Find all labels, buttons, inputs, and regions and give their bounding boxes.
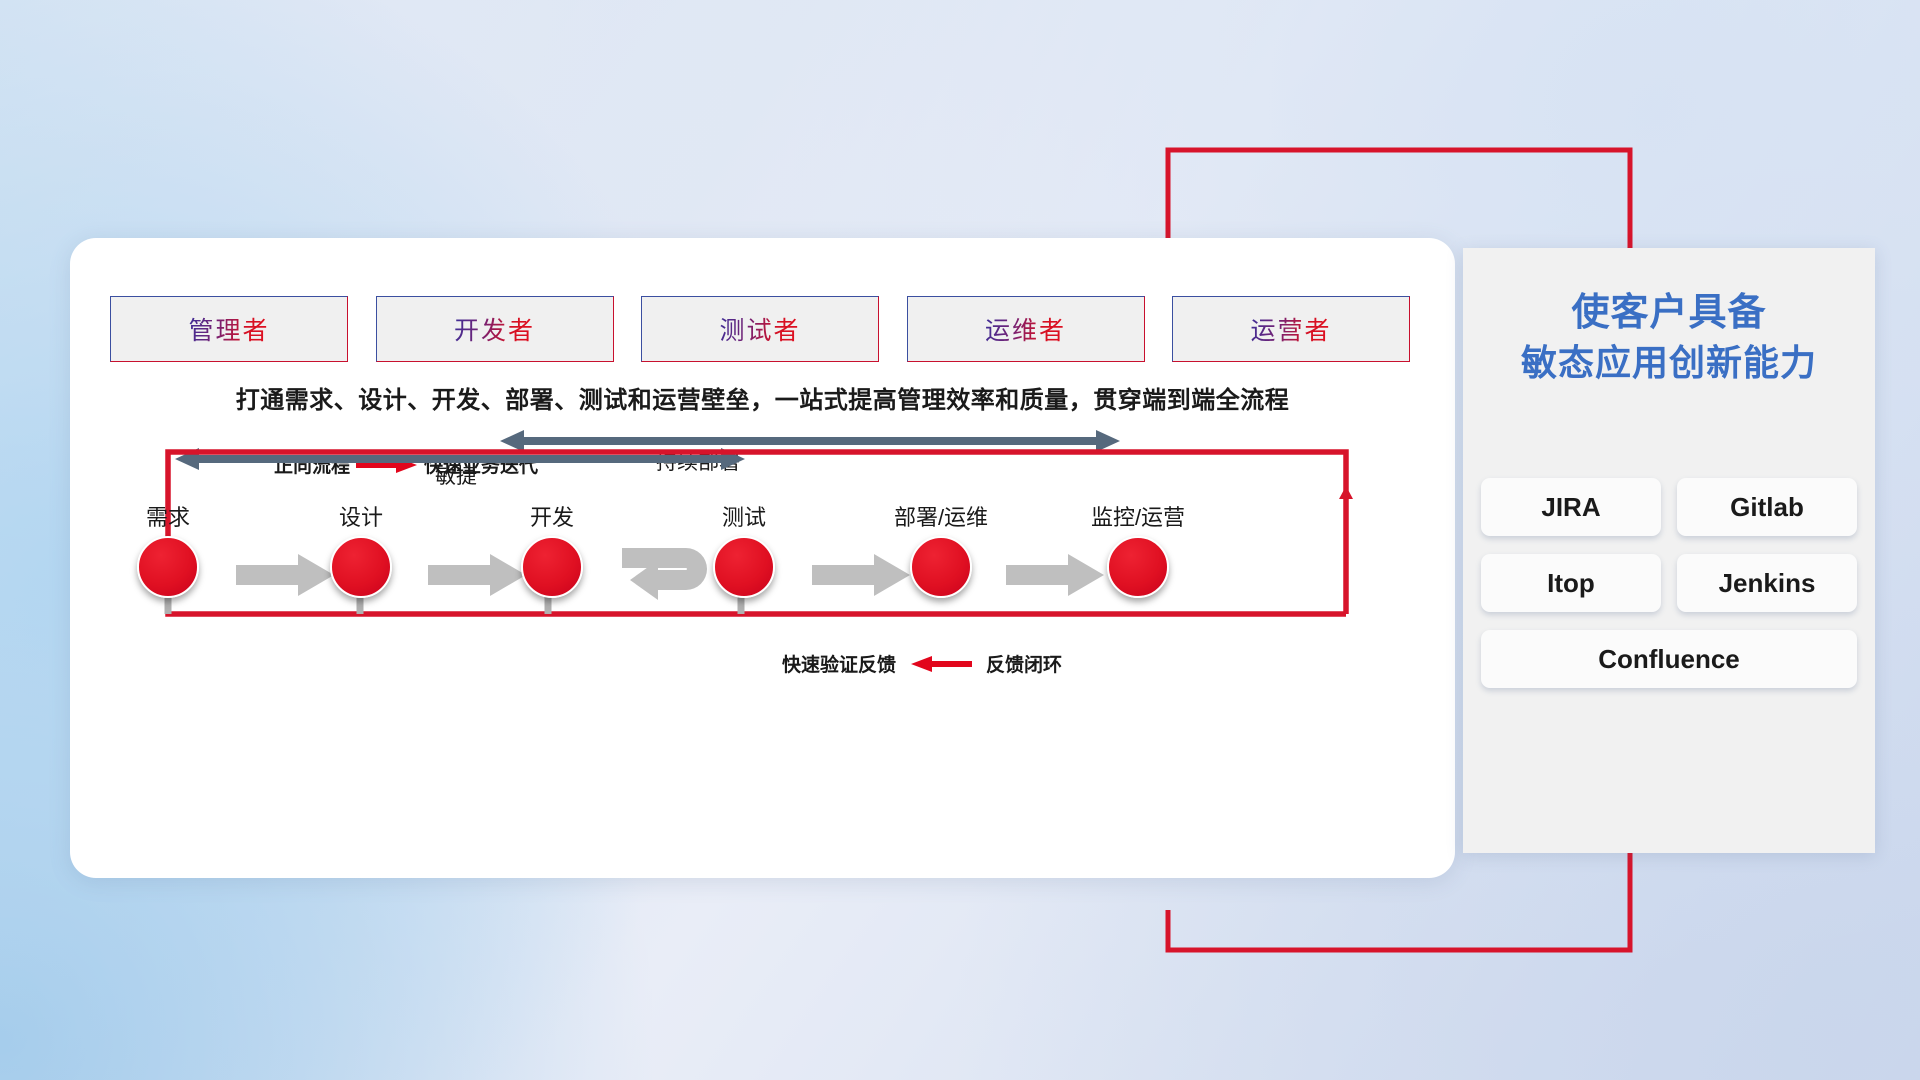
stage-label: 部署/运维 — [894, 500, 988, 532]
stage-label: 设计 — [339, 500, 383, 532]
role-box-row: 管理者 开发者 测试者 运维者 运营者 — [110, 296, 1410, 366]
stage-label: 需求 — [146, 500, 190, 532]
tool-chip-list: JIRA Gitlab Itop Jenkins Confluence — [1475, 478, 1863, 688]
tool-chip-jira[interactable]: JIRA — [1481, 478, 1661, 536]
stage-dot — [1107, 536, 1169, 598]
value-proposition-panel: 使客户具备 敏态应用创新能力 JIRA Gitlab Itop Jenkins … — [1463, 248, 1875, 853]
tool-label: JIRA — [1541, 492, 1600, 523]
main-content-card: 管理者 开发者 测试者 运维者 运营者 打通需求、设计、开发、部署、测试和运营壁… — [70, 238, 1455, 878]
stage-dot — [521, 536, 583, 598]
gray-arrow-icon — [1006, 552, 1106, 598]
gray-arrow-icon — [812, 552, 912, 598]
role-label: 开发者 — [454, 311, 535, 347]
role-box-manager[interactable]: 管理者 — [110, 296, 348, 362]
role-box-ops[interactable]: 运维者 — [907, 296, 1145, 362]
stage-label: 测试 — [722, 500, 766, 532]
feedback-loop-legend: 快速验证反馈 反馈闭环 — [782, 650, 1062, 677]
role-label: 运营者 — [1250, 311, 1331, 347]
tool-label: Confluence — [1598, 644, 1740, 675]
stage-dot — [910, 536, 972, 598]
panel-title-line2: 敏态应用创新能力 — [1463, 339, 1875, 388]
stage-label: 监控/运营 — [1091, 500, 1185, 532]
gray-arrow-icon — [236, 552, 336, 598]
description-text: 打通需求、设计、开发、部署、测试和运营壁垒，一站式提高管理效率和质量，贯穿端到端… — [70, 380, 1455, 415]
gray-arrow-icon — [428, 552, 528, 598]
devops-pipeline: 需求 设计 开发 测试 — [106, 500, 1416, 620]
role-box-developer[interactable]: 开发者 — [376, 296, 614, 362]
tool-label: Gitlab — [1730, 492, 1804, 523]
tool-chip-jenkins[interactable]: Jenkins — [1677, 554, 1857, 612]
stage-dot — [713, 536, 775, 598]
tool-chip-confluence[interactable]: Confluence — [1481, 630, 1857, 688]
tool-label: Itop — [1547, 568, 1595, 599]
role-box-tester[interactable]: 测试者 — [641, 296, 879, 362]
panel-title: 使客户具备 敏态应用创新能力 — [1463, 288, 1875, 388]
slide-canvas: 管理者 开发者 测试者 运维者 运营者 打通需求、设计、开发、部署、测试和运营壁… — [0, 0, 1920, 1080]
tool-chip-itop[interactable]: Itop — [1481, 554, 1661, 612]
panel-title-line1: 使客户具备 — [1571, 292, 1766, 334]
role-box-operations[interactable]: 运营者 — [1172, 296, 1410, 362]
stage-dot — [137, 536, 199, 598]
stage-label: 开发 — [530, 500, 574, 532]
feedback-closed-loop-label: 反馈闭环 — [986, 650, 1062, 677]
red-arrow-left-icon — [910, 655, 972, 673]
stage-dot — [330, 536, 392, 598]
role-label: 运维者 — [985, 311, 1066, 347]
fast-validation-label: 快速验证反馈 — [782, 650, 896, 677]
tool-chip-gitlab[interactable]: Gitlab — [1677, 478, 1857, 536]
tool-label: Jenkins — [1719, 568, 1816, 599]
role-label: 测试者 — [719, 311, 800, 347]
role-label: 管理者 — [188, 311, 269, 347]
